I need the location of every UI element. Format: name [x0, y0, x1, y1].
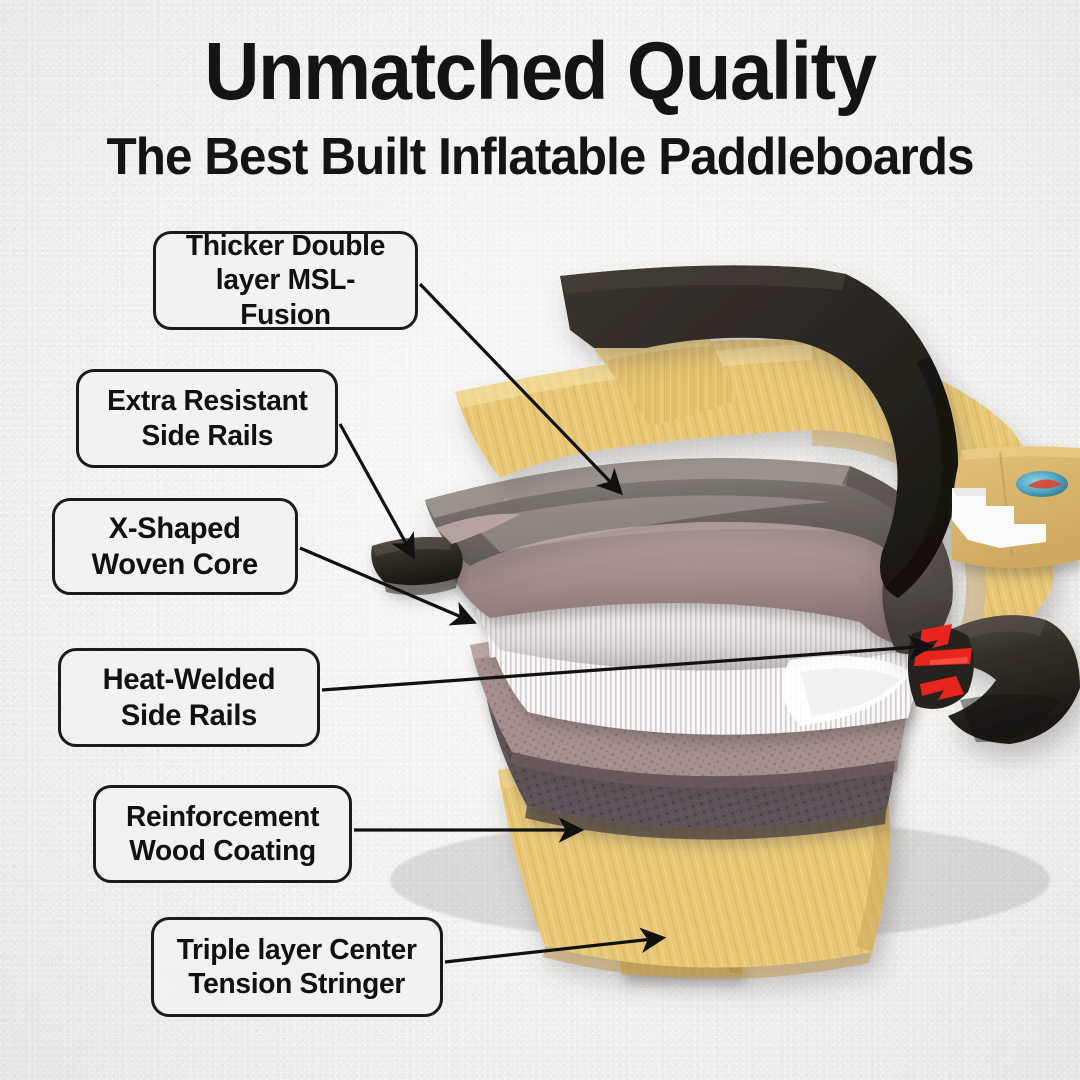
page-subtitle: The Best Built Inflatable Paddleboards	[27, 130, 1053, 185]
callout-3-line1: Heat-Welded	[103, 662, 276, 697]
callout-5-line1: Triple layer Center	[177, 933, 417, 967]
page-title: Unmatched Quality	[38, 30, 1042, 114]
callout-1-line1: Extra Resistant	[107, 384, 307, 418]
callout-4-line2: Wood Coating	[126, 834, 319, 868]
left-black-rail-tip	[371, 537, 463, 595]
callout-thicker-double-layer-msl-fusion[interactable]: Thicker Double layer MSL-Fusion	[153, 231, 418, 330]
callout-x-shaped-woven-core[interactable]: X-Shaped Woven Core	[52, 498, 298, 595]
callout-1-line2: Side Rails	[107, 419, 307, 453]
callout-extra-resistant-side-rails[interactable]: Extra Resistant Side Rails	[76, 369, 338, 468]
callout-reinforcement-wood-coating[interactable]: Reinforcement Wood Coating	[93, 785, 352, 883]
callout-2-line1: X-Shaped	[92, 511, 258, 546]
heat-welded-rail-joint	[908, 624, 974, 709]
callout-0-line2: layer MSL-Fusion	[173, 263, 397, 331]
callout-0-line1: Thicker Double	[173, 229, 397, 263]
header: Unmatched Quality The Best Built Inflata…	[0, 0, 1080, 184]
callout-5-line2: Tension Stringer	[177, 967, 417, 1001]
callout-3-line2: Side Rails	[103, 698, 276, 733]
callout-2-line2: Woven Core	[92, 547, 258, 582]
callout-4-line1: Reinforcement	[126, 800, 319, 834]
callout-heat-welded-side-rails[interactable]: Heat-Welded Side Rails	[58, 648, 320, 747]
callout-triple-layer-center-tension-stringer[interactable]: Triple layer Center Tension Stringer	[151, 917, 443, 1017]
